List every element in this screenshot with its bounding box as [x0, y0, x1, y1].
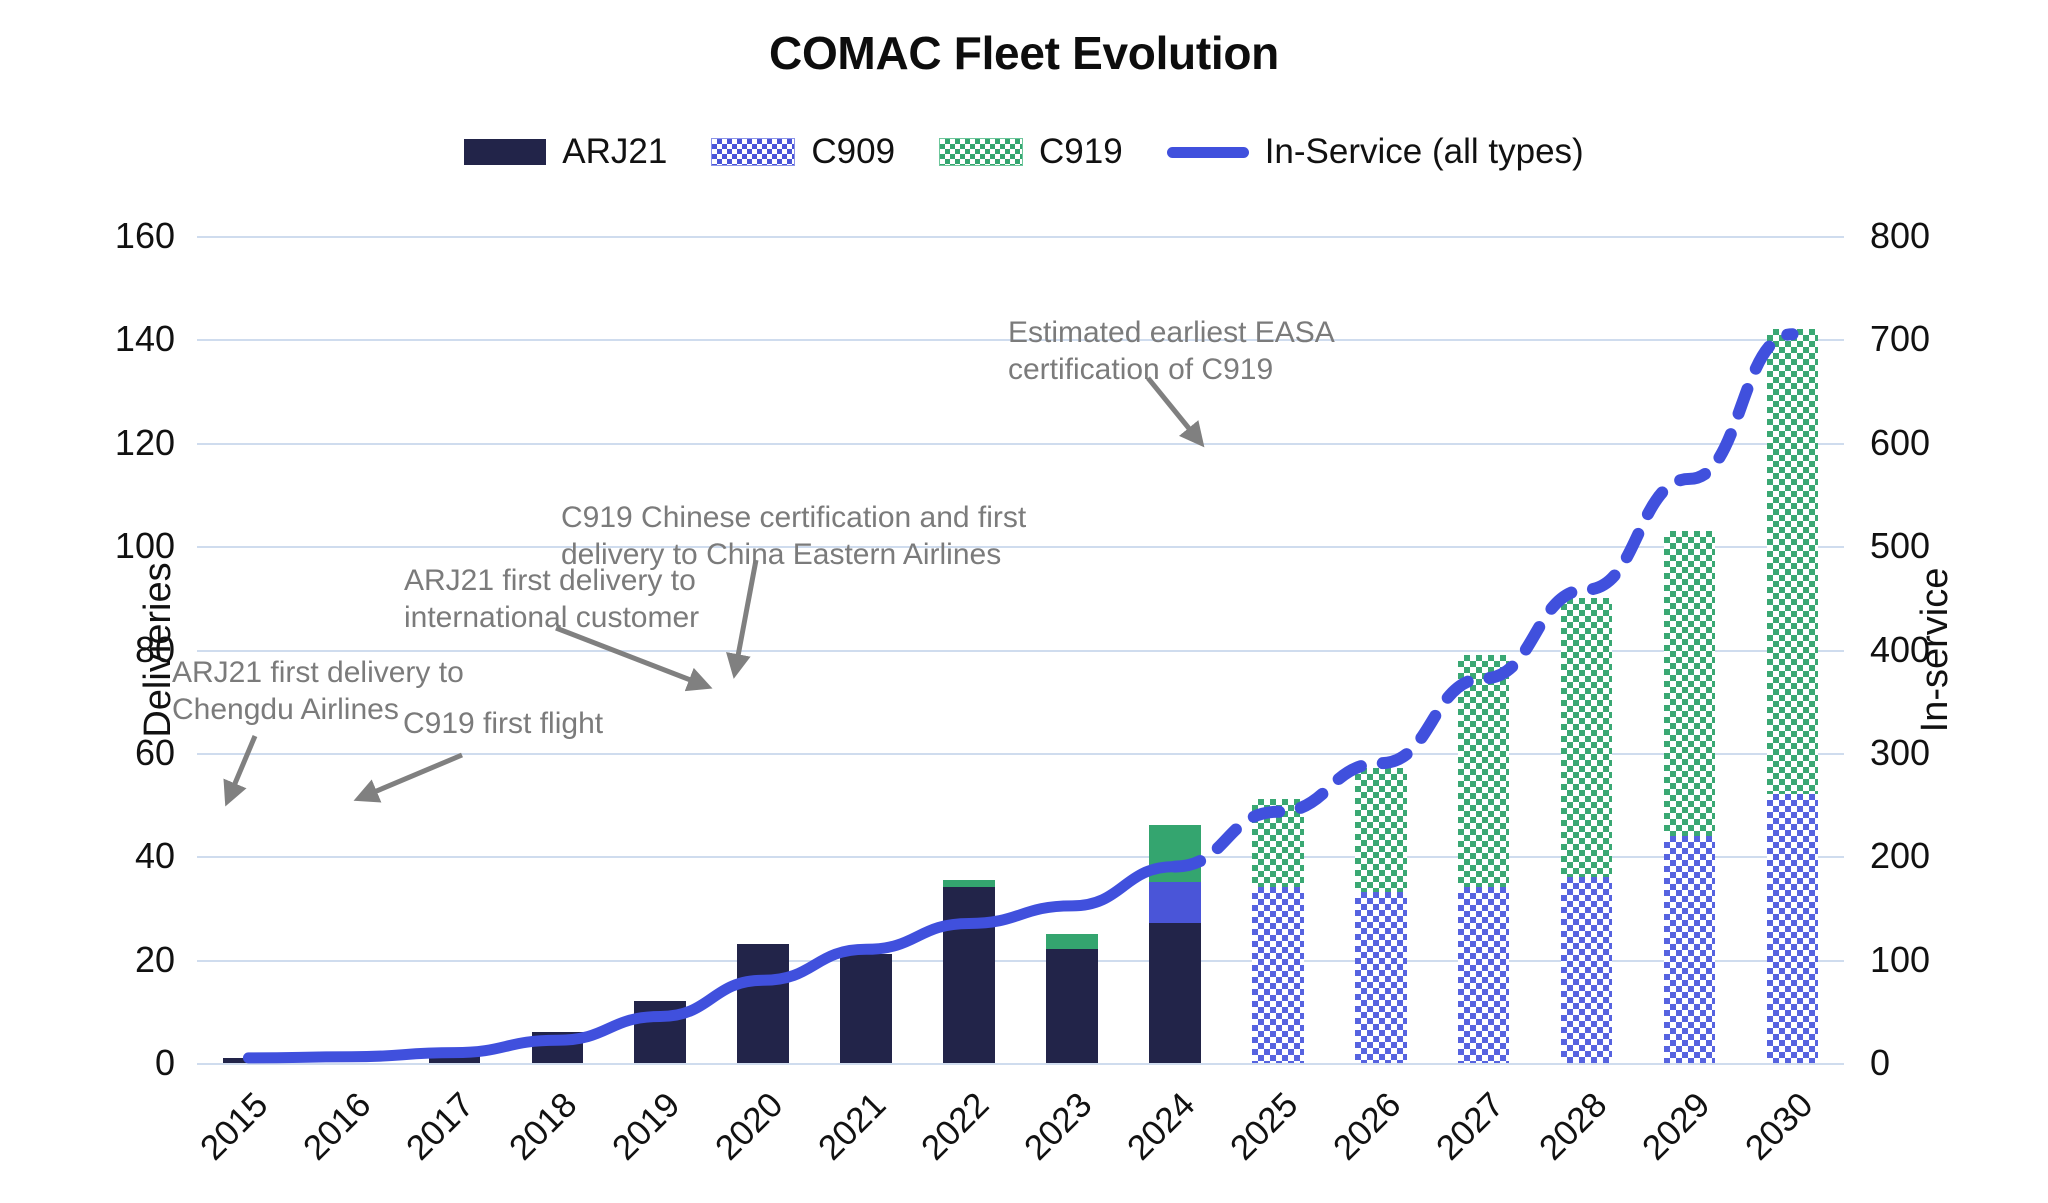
in-service-line-historical [248, 867, 1174, 1058]
legend-swatch-arj21-icon [464, 139, 546, 165]
y-tick-label-right: 300 [1870, 732, 1930, 774]
legend-item-arj21[interactable]: ARJ21 [464, 132, 667, 172]
x-tick-label: 2015 [193, 1085, 276, 1168]
y-tick-label-right: 200 [1870, 835, 1930, 877]
plot-area: Delivieries In-service 02040608010012014… [197, 236, 1844, 1063]
legend-swatch-c909-icon [711, 138, 795, 166]
y-tick-label-left: 120 [115, 422, 175, 464]
x-tick-label: 2030 [1737, 1085, 1820, 1168]
legend-item-c909[interactable]: C909 [711, 132, 895, 172]
legend-item-c919[interactable]: C919 [939, 132, 1123, 172]
y-tick-label-right: 600 [1870, 422, 1930, 464]
gridline [197, 1063, 1844, 1065]
y-tick-label-right: 800 [1870, 215, 1930, 257]
legend-swatch-c919-icon [939, 138, 1023, 166]
y-tick-label-right: 700 [1870, 318, 1930, 360]
legend-swatch-in-service-icon [1167, 147, 1249, 158]
in-service-line-forecast [1175, 334, 1793, 866]
x-tick-label: 2024 [1120, 1085, 1203, 1168]
y-tick-label-left: 100 [115, 525, 175, 567]
y-tick-label-right: 400 [1870, 629, 1930, 671]
legend-item-in-service[interactable]: In-Service (all types) [1167, 132, 1584, 172]
x-tick-label: 2025 [1223, 1085, 1306, 1168]
y-tick-label-left: 60 [135, 732, 175, 774]
x-tick-label: 2023 [1017, 1085, 1100, 1168]
y-tick-label-left: 140 [115, 318, 175, 360]
x-tick-label: 2018 [502, 1085, 585, 1168]
x-tick-label: 2021 [811, 1085, 894, 1168]
y-tick-label-right: 500 [1870, 525, 1930, 567]
x-tick-label: 2022 [914, 1085, 997, 1168]
y-tick-label-left: 80 [135, 629, 175, 671]
chart-root: COMAC Fleet Evolution ARJ21 C909 C919 In… [0, 0, 2048, 1203]
legend-label-c909: C909 [811, 132, 895, 172]
x-tick-label: 2016 [296, 1085, 379, 1168]
in-service-line-series [197, 236, 1844, 1063]
x-tick-label: 2017 [399, 1085, 482, 1168]
legend-label-arj21: ARJ21 [562, 132, 667, 172]
y-tick-label-right: 0 [1870, 1042, 1890, 1084]
y-tick-label-left: 0 [155, 1042, 175, 1084]
x-tick-label: 2026 [1326, 1085, 1409, 1168]
x-tick-label: 2028 [1531, 1085, 1614, 1168]
chart-title: COMAC Fleet Evolution [0, 26, 2048, 80]
x-tick-label: 2019 [605, 1085, 688, 1168]
x-tick-label: 2027 [1429, 1085, 1512, 1168]
y-tick-label-left: 40 [135, 835, 175, 877]
legend-label-in-service: In-Service (all types) [1265, 132, 1584, 172]
y-tick-label-right: 100 [1870, 939, 1930, 981]
x-tick-label: 2020 [708, 1085, 791, 1168]
chart-legend: ARJ21 C909 C919 In-Service (all types) [0, 132, 2048, 172]
y-tick-label-left: 160 [115, 215, 175, 257]
y-tick-label-left: 20 [135, 939, 175, 981]
x-tick-label: 2029 [1634, 1085, 1717, 1168]
legend-label-c919: C919 [1039, 132, 1123, 172]
